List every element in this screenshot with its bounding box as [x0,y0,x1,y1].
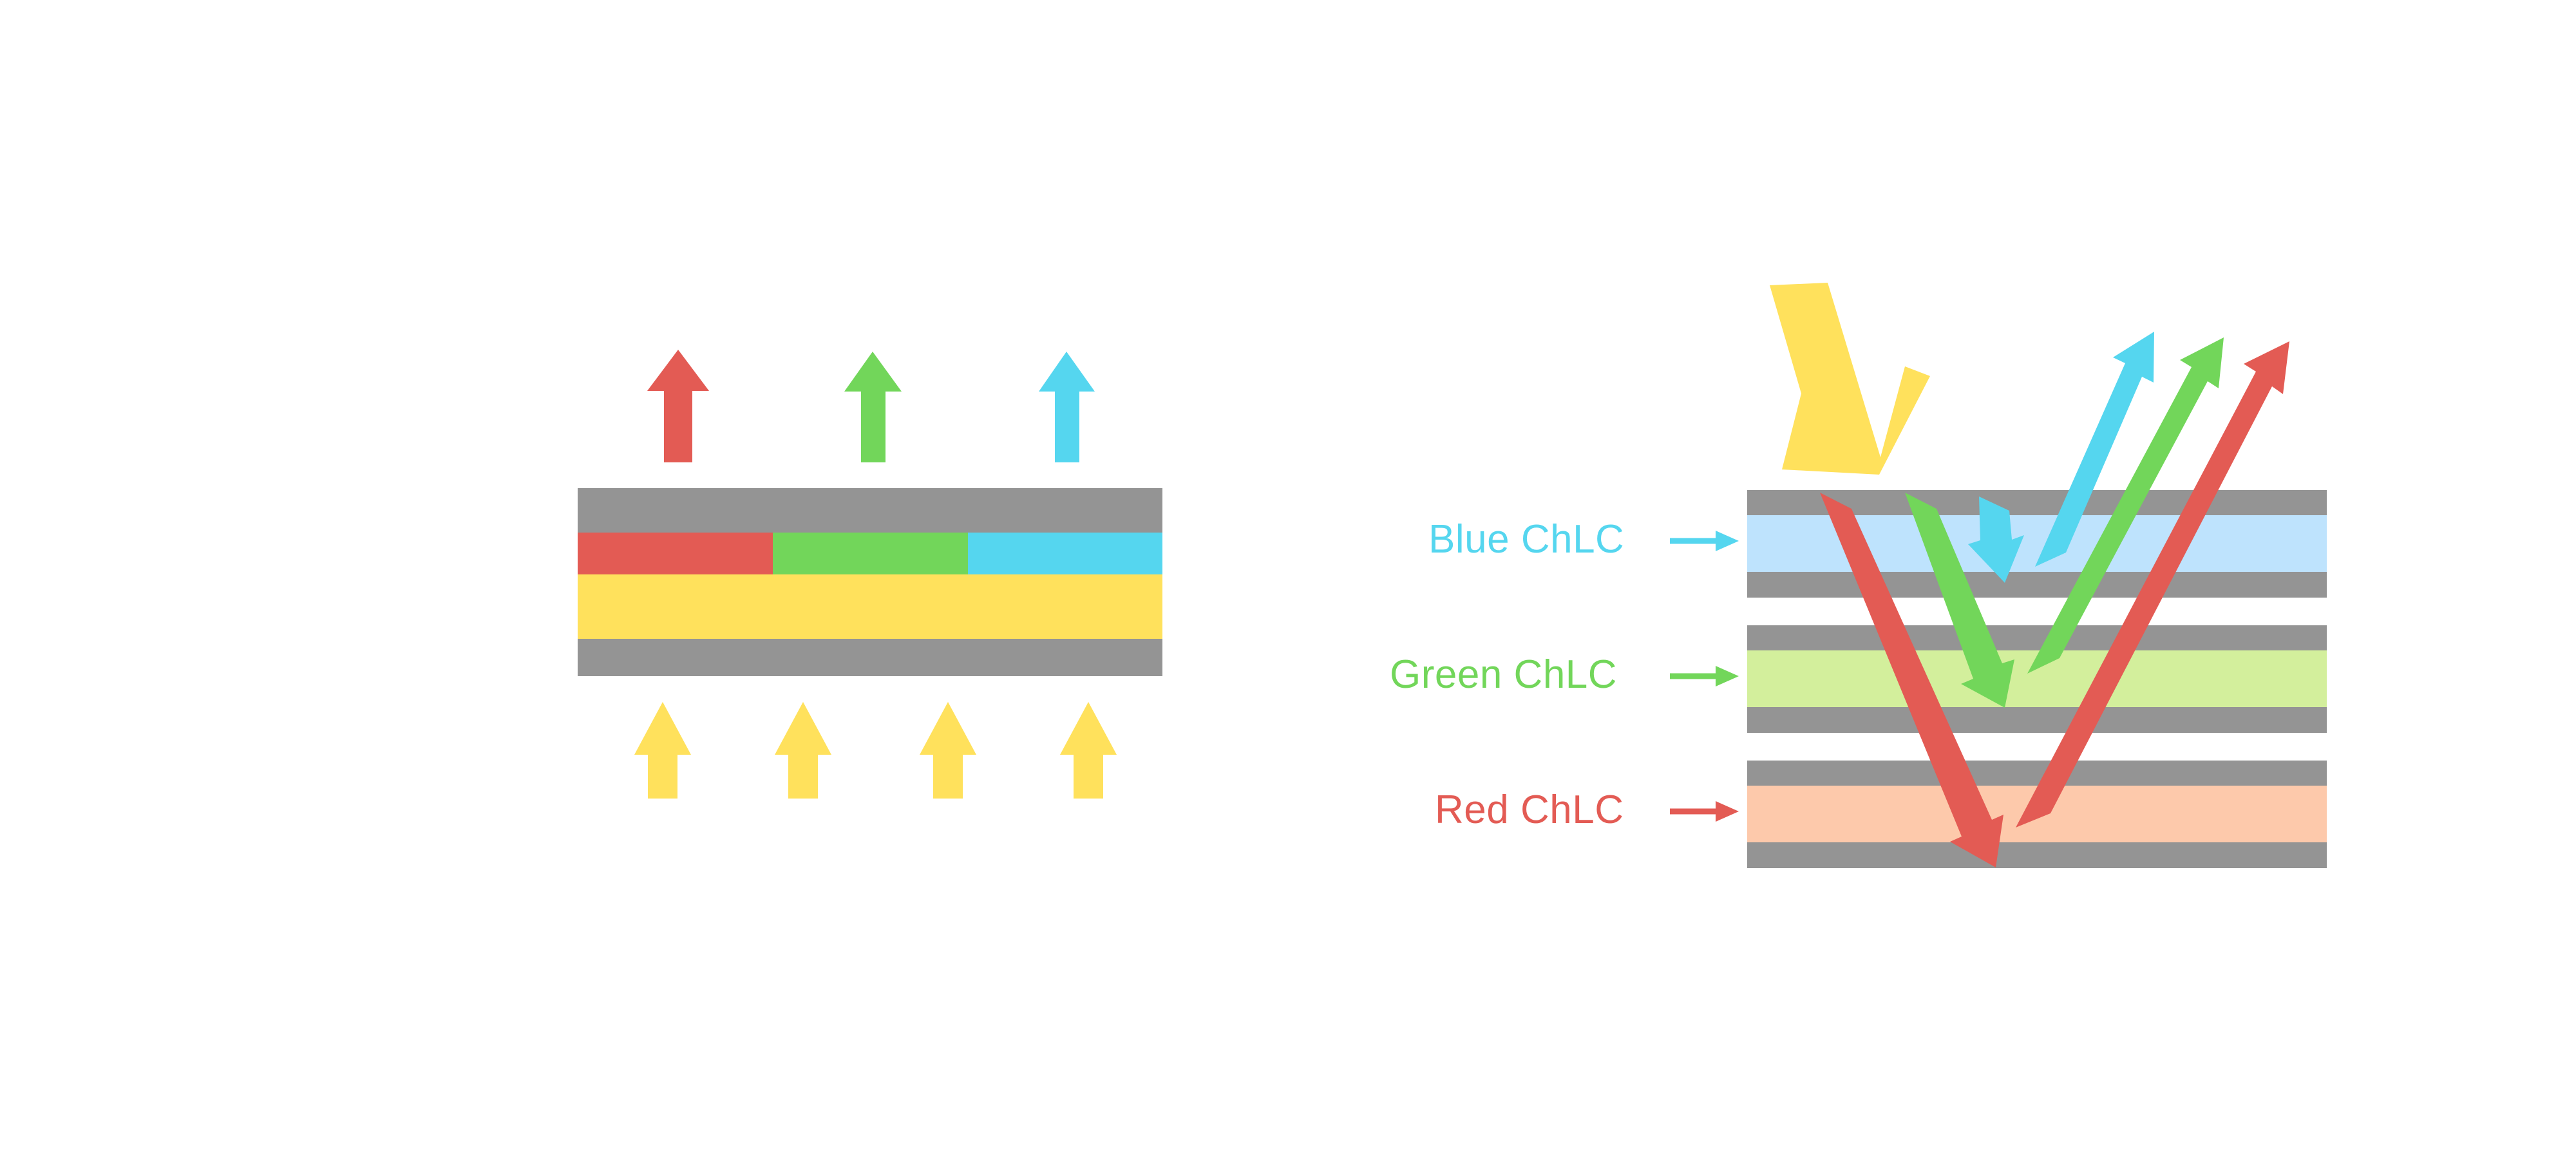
label-red-chlc: Red ChLC [1435,788,1739,832]
incident-light-arrow [1770,283,1930,475]
transmissive-stack [578,488,1162,676]
figure-root: Blue ChLC Green ChLC Red ChLC [0,0,2576,1154]
red-subpixel [578,533,773,574]
backlight-arrow-2 [775,702,831,799]
label-blue-chlc-arrow-icon [1670,531,1739,551]
backlight-arrow-3 [920,702,976,799]
green-cell-top-electrode [1747,625,2327,650]
blue-cell-bottom-electrode [1747,572,2327,598]
label-green-chlc-text: Green ChLC [1390,652,1617,697]
green-subpixel [773,533,968,574]
backlight-arrow-4 [1060,702,1117,799]
label-red-chlc-arrow-icon [1670,801,1739,822]
label-blue-chlc-text: Blue ChLC [1428,517,1624,562]
red-cell-bottom-electrode [1747,842,2327,868]
backlight-arrow-1 [634,702,691,799]
green-cell-bottom-electrode [1747,707,2327,733]
red-cell-top-electrode [1747,761,2327,786]
top-electrode-layer [578,488,1162,533]
blue-subpixel [968,533,1162,574]
label-red-chlc-text: Red ChLC [1435,788,1624,832]
green-chlc-cell [1747,625,2327,733]
schematic-canvas: Blue ChLC Green ChLC Red ChLC [0,0,2576,1154]
left-panel [578,350,1162,799]
emitted-blue-arrow [1039,352,1095,462]
emitted-red-arrow [647,350,709,462]
right-panel: Blue ChLC Green ChLC Red ChLC [1390,283,2327,868]
backlight-layer [578,574,1162,639]
bottom-electrode-layer [578,639,1162,676]
label-blue-chlc: Blue ChLC [1428,517,1739,562]
emitted-green-arrow [844,352,902,462]
label-green-chlc-arrow-icon [1670,666,1739,686]
label-green-chlc: Green ChLC [1390,652,1739,697]
